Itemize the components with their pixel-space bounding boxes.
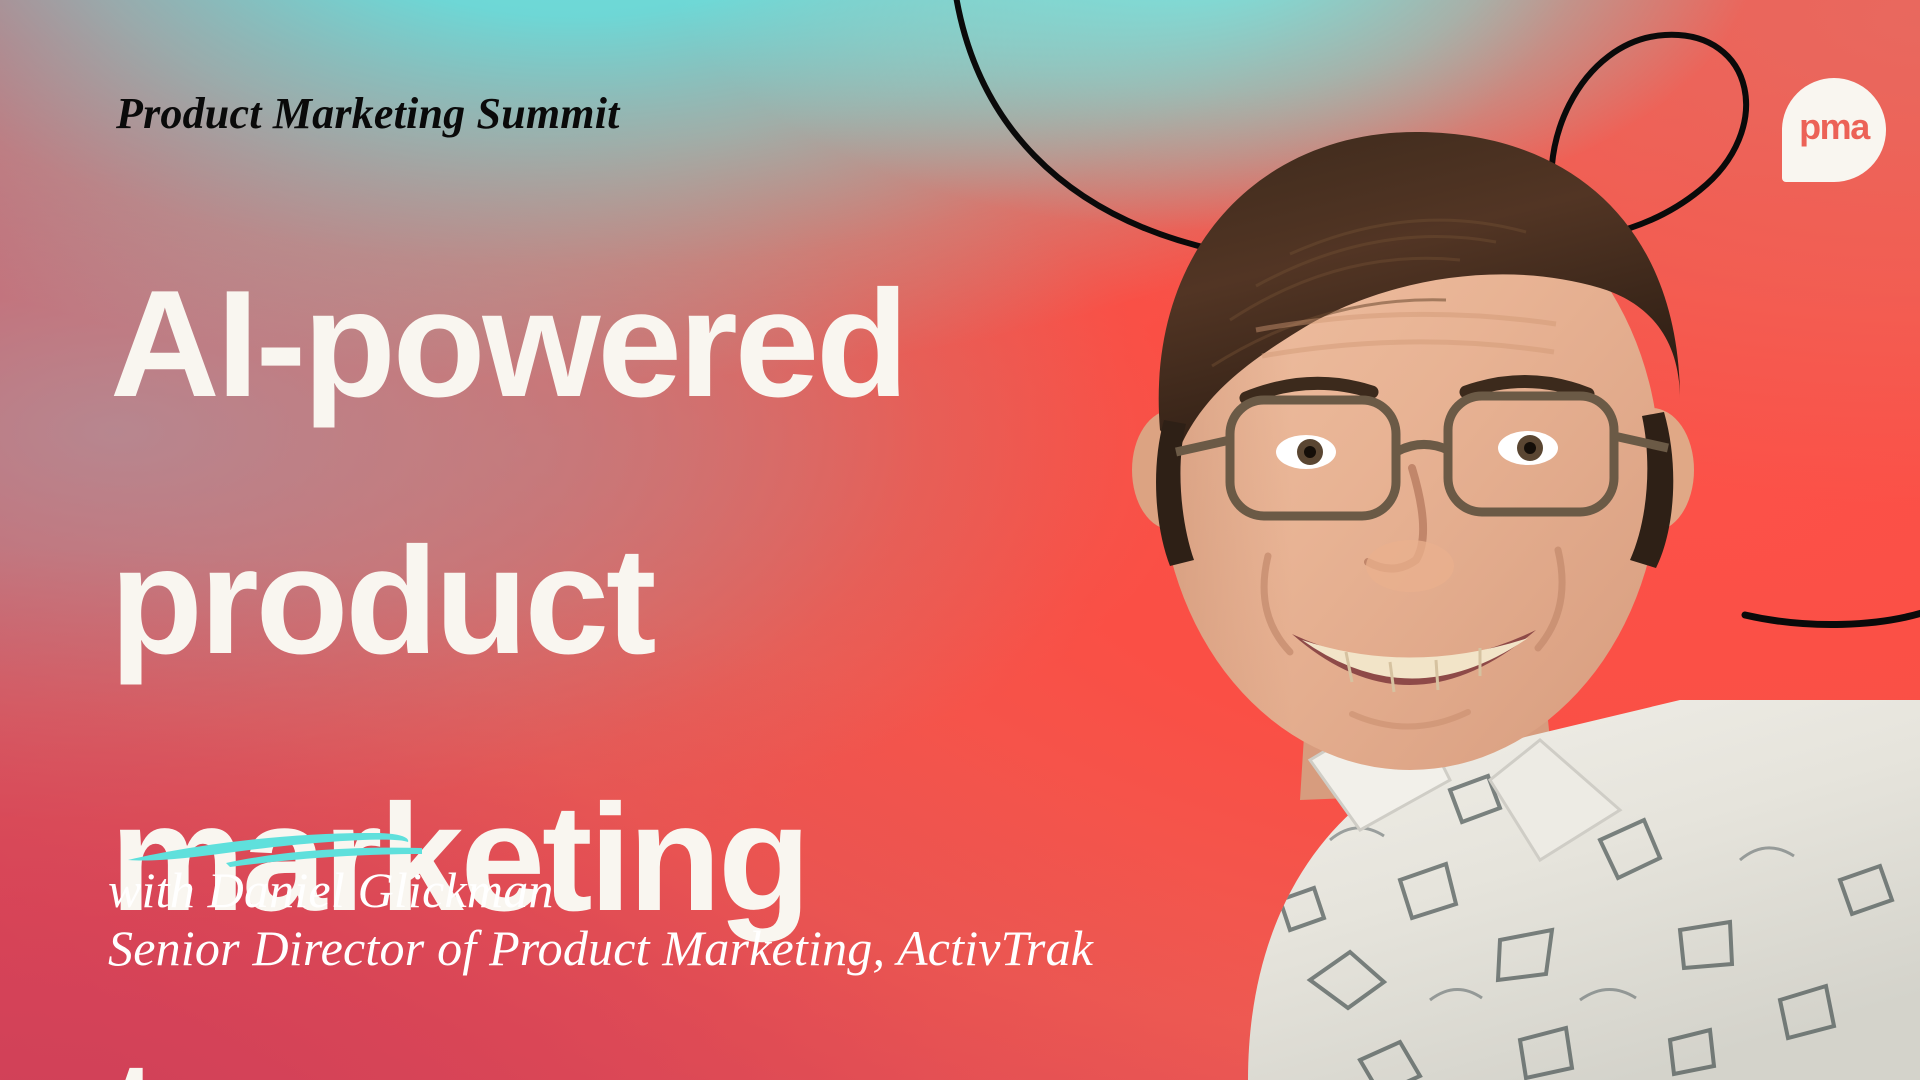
headline-line-2: product [110,537,1110,665]
headline-line-1: AI-powered [110,280,1110,408]
pma-logo[interactable]: pma [1782,78,1886,182]
nose-tip [1366,540,1454,592]
event-eyebrow: Product Marketing Summit [116,88,620,139]
pupil-left [1304,446,1316,458]
speaker-name: with Daniel Glickman [108,862,1093,918]
speaker-role: Senior Director of Product Marketing, Ac… [108,920,1093,976]
headline-line-4: team [110,1051,1110,1080]
pma-logo-wordmark: pma [1782,78,1886,182]
pupil-right [1524,442,1536,454]
speaker-credit: with Daniel Glickman Senior Director of … [108,862,1093,976]
speaker-headshot-art [980,0,1920,1080]
title-card: Product Marketing Summit AI-powered prod… [0,0,1920,1080]
speaker-headshot [980,0,1920,1080]
